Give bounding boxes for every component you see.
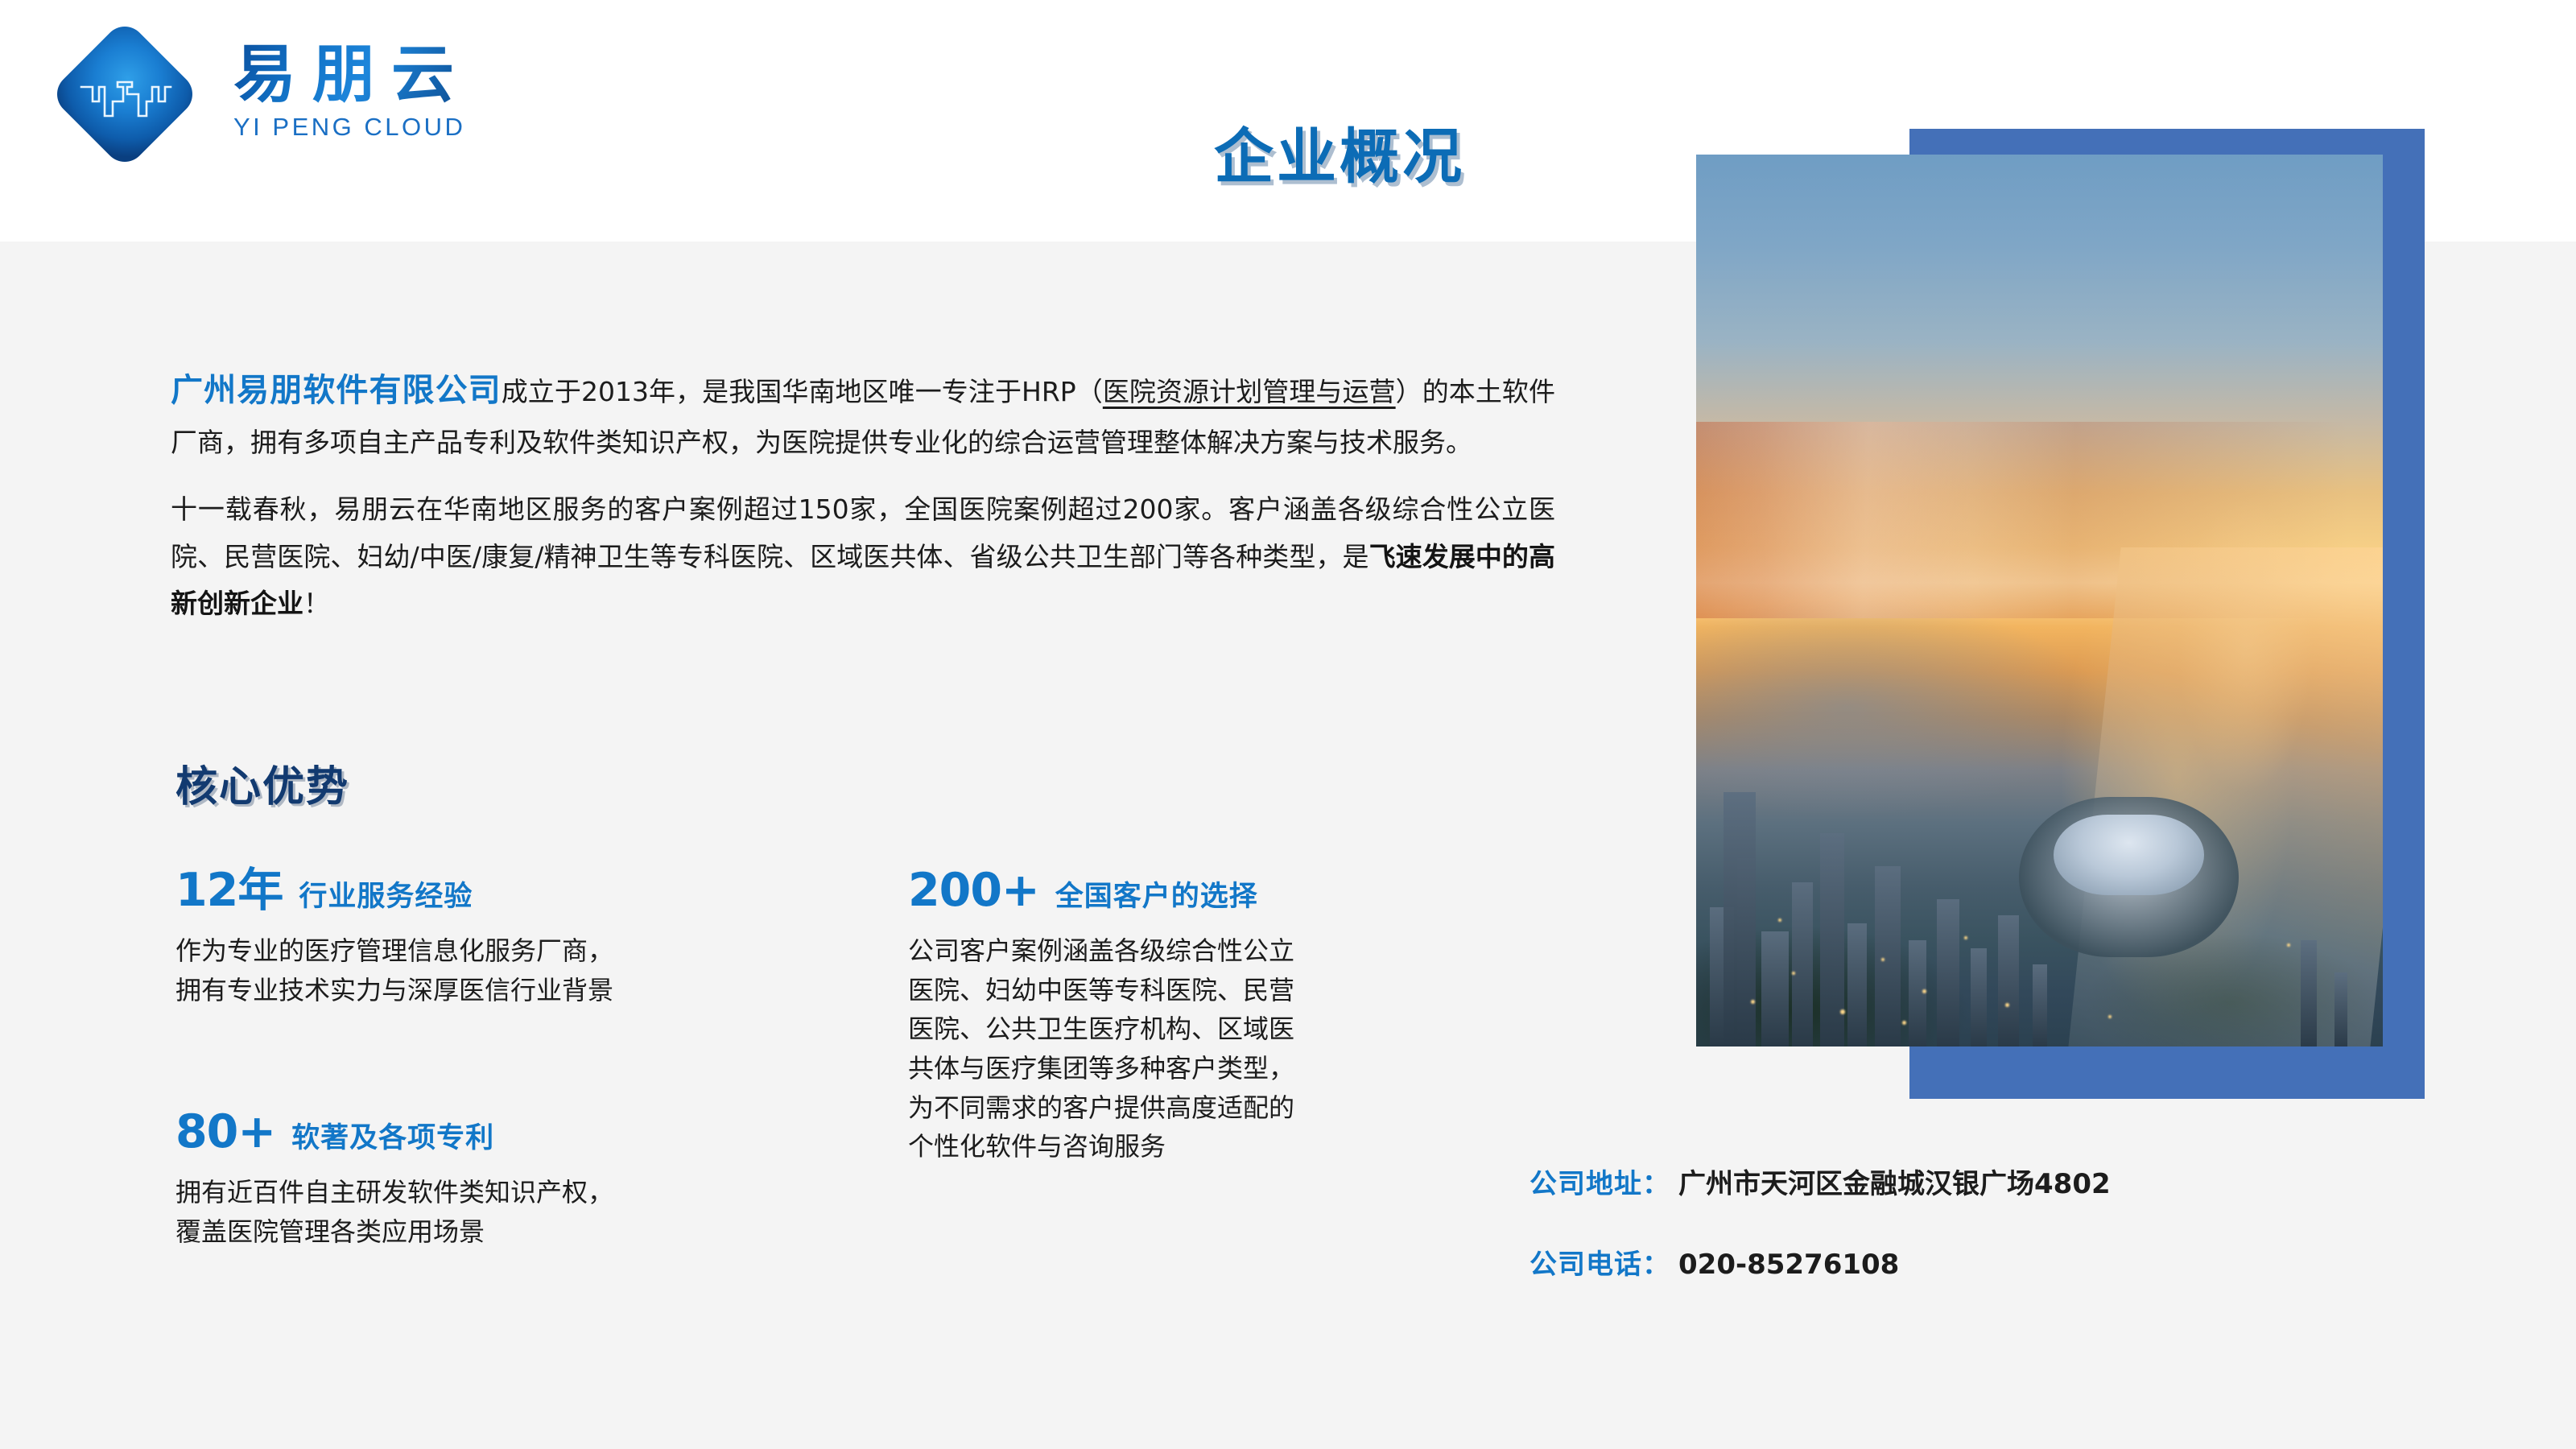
desc-part-3: 十一载春秋，易朋云在华南地区服务的客户案例超过150家，全国医院案例超过200家… xyxy=(171,493,1555,572)
slide-root: 易朋云 YI PENG CLOUD 企业概况 xyxy=(0,0,2576,1449)
stat-header: 12年 行业服务经验 xyxy=(175,868,836,914)
core-advantage-title: 核心优势 xyxy=(175,766,349,808)
phone-value[interactable]: 020-85276108 xyxy=(1678,1249,1899,1281)
stat-label: 行业服务经验 xyxy=(299,883,473,911)
company-name: 广州易朋软件有限公司 xyxy=(171,372,502,409)
brand-name-en: YI PENG CLOUD xyxy=(233,113,470,142)
address-label: 公司地址： xyxy=(1529,1162,1670,1201)
city-photo-image xyxy=(1696,155,2383,1046)
desc-part-4: ！ xyxy=(303,588,330,619)
stat-card-12-years: 12年 行业服务经验 作为专业的医疗管理信息化服务厂商， 拥有专业技术实力与深厚… xyxy=(175,868,836,1009)
stat-number: 12年 xyxy=(175,868,283,914)
address-value: 广州市天河区金融城汉银广场4802 xyxy=(1678,1162,2111,1201)
desc-underlined-term: 医院资源计划管理与运营 xyxy=(1103,376,1396,407)
stat-card-80-patents: 80+ 软著及各项专利 拥有近百件自主研发软件类知识产权， 覆盖医院管理各类应用… xyxy=(175,1109,836,1251)
stat-description: 拥有近百件自主研发软件类知识产权， 覆盖医院管理各类应用场景 xyxy=(175,1173,836,1251)
company-address: 公司地址： 广州市天河区金融城汉银广场4802 xyxy=(1529,1162,2111,1201)
company-description-para2: 十一载春秋，易朋云在华南地区服务的客户案例超过150家，全国医院案例超过200家… xyxy=(171,486,1555,628)
stat-label: 软著及各项专利 xyxy=(291,1125,494,1153)
city-photo xyxy=(1696,155,2383,1046)
stat-card-200-customers: 200+ 全国客户的选择 公司客户案例涵盖各级综合性公立 医院、妇幼中医等专科医… xyxy=(908,868,1520,1166)
company-phone: 公司电话： 020-85276108 xyxy=(1529,1242,1899,1282)
brand-name-cn: 易朋云 xyxy=(233,43,470,106)
stat-description: 作为专业的医疗管理信息化服务厂商， 拥有专业技术实力与深厚医信行业背景 xyxy=(175,931,836,1009)
photo-city-lights xyxy=(1696,690,2383,1046)
stat-header: 200+ 全国客户的选择 xyxy=(908,868,1520,914)
stat-header: 80+ 软著及各项专利 xyxy=(175,1109,836,1155)
desc-part-1: 成立于2013年，是我国华南地区唯一专注于HRP（ xyxy=(502,376,1103,407)
stat-number: 80+ xyxy=(175,1109,275,1155)
stat-label: 全国客户的选择 xyxy=(1055,883,1258,911)
stat-number: 200+ xyxy=(908,868,1039,914)
stat-description: 公司客户案例涵盖各级综合性公立 医院、妇幼中医等专科医院、民营 医院、公共卫生医… xyxy=(908,931,1520,1166)
brand-logo[interactable]: 易朋云 YI PENG CLOUD xyxy=(48,18,547,203)
diamond-ekg-logo-icon xyxy=(48,18,201,171)
brand-wordmark: 易朋云 YI PENG CLOUD xyxy=(233,43,470,142)
company-description: 广州易朋软件有限公司成立于2013年，是我国华南地区唯一专注于HRP（医院资源计… xyxy=(171,362,1555,628)
page-title: 企业概况 xyxy=(1214,127,1465,187)
phone-label: 公司电话： xyxy=(1529,1242,1670,1282)
